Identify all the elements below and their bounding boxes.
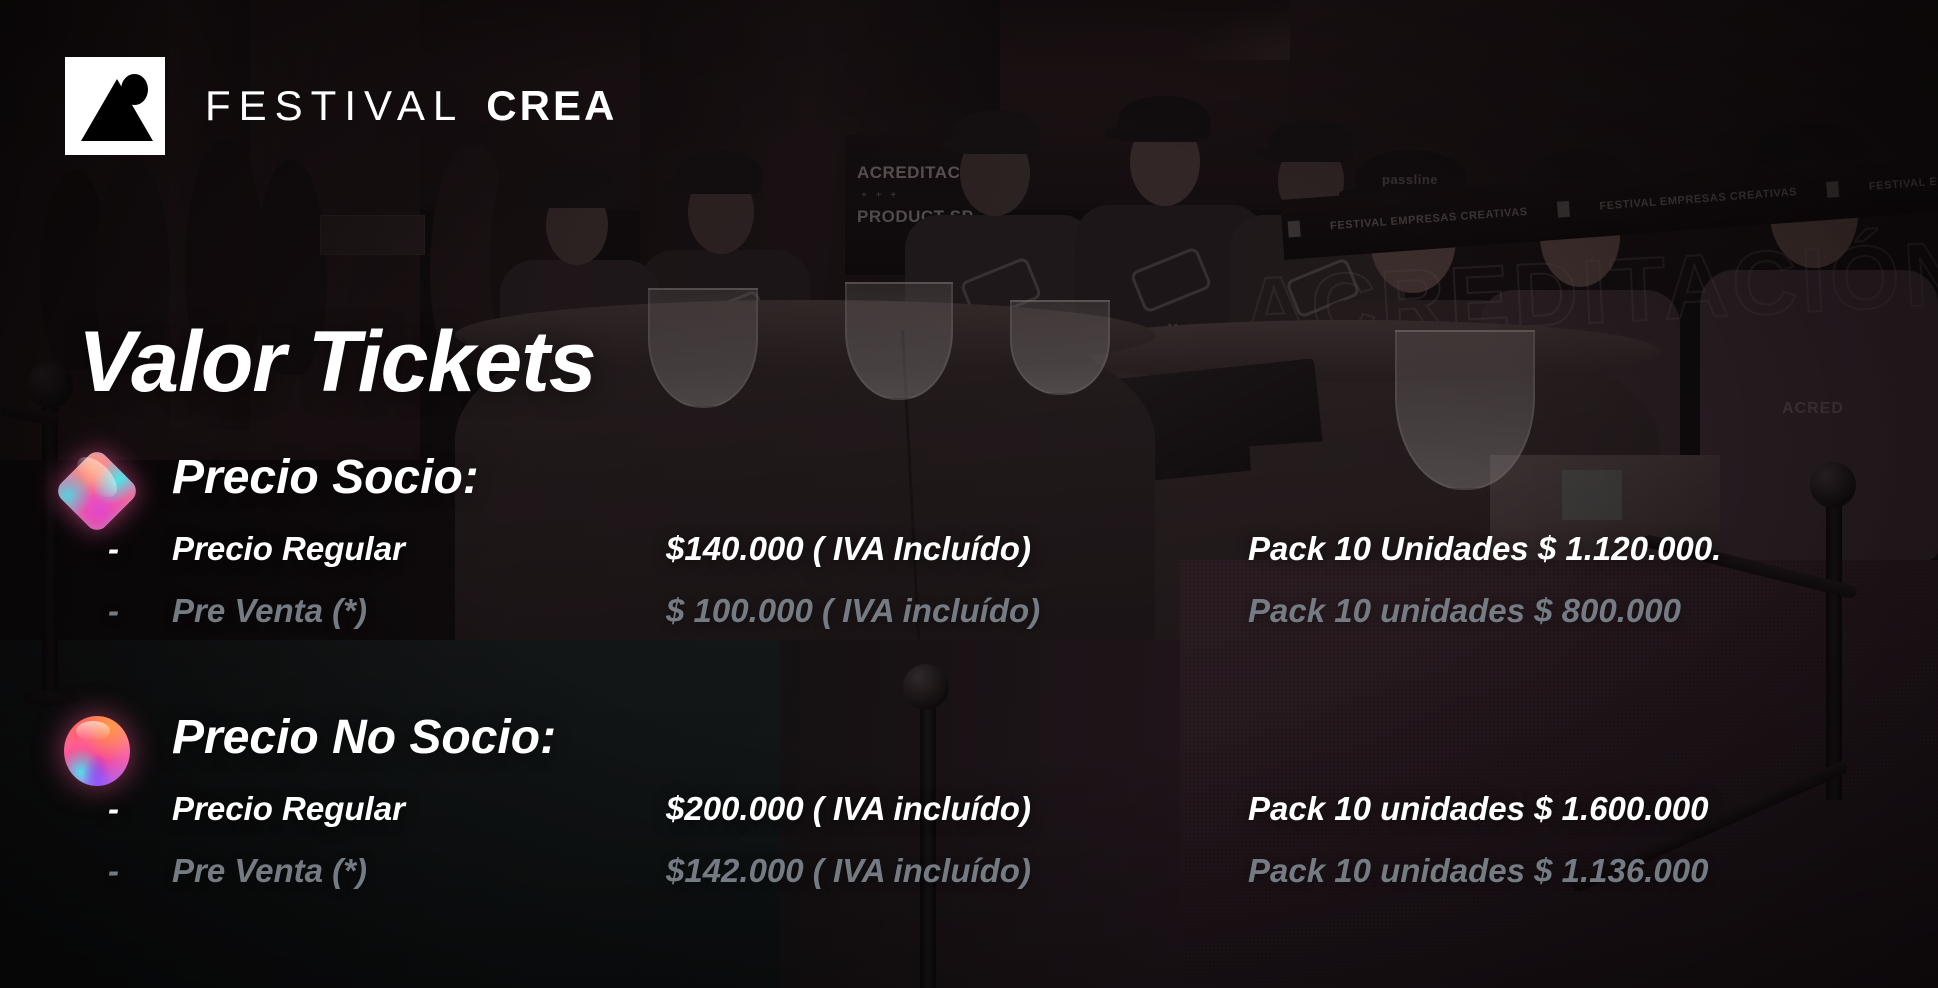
group-title: Precio Socio: bbox=[172, 450, 479, 505]
price-row: - Pre Venta (*) $ 100.000 ( IVA incluído… bbox=[0, 592, 1938, 654]
row-price: $142.000 ( IVA incluído) bbox=[666, 852, 1031, 890]
row-dash: - bbox=[108, 592, 119, 630]
row-price: $200.000 ( IVA incluído) bbox=[666, 790, 1031, 828]
gradient-orb-icon bbox=[58, 712, 136, 790]
logo-circle-icon bbox=[121, 74, 148, 105]
row-pack: Pack 10 unidades $ 1.136.000 bbox=[1248, 852, 1708, 890]
row-price: $ 100.000 ( IVA incluído) bbox=[666, 592, 1040, 630]
price-row: - Precio Regular $200.000 ( IVA incluído… bbox=[0, 790, 1938, 852]
price-row: - Precio Regular $140.000 ( IVA Incluído… bbox=[0, 530, 1938, 592]
pricing-group-no-socio: Precio No Socio: - Precio Regular $200.0… bbox=[0, 720, 1938, 914]
slide-content: FESTIVAL CREA Valor Tickets Precio Socio… bbox=[0, 0, 1938, 988]
row-pack: Pack 10 Unidades $ 1.120.000. bbox=[1248, 530, 1721, 568]
pricing-group-socio: Precio Socio: - Precio Regular $140.000 … bbox=[0, 460, 1938, 654]
row-price: $140.000 ( IVA Incluído) bbox=[666, 530, 1031, 568]
price-row: - Pre Venta (*) $142.000 ( IVA incluído)… bbox=[0, 852, 1938, 914]
row-pack: Pack 10 unidades $ 800.000 bbox=[1248, 592, 1681, 630]
brand-lockup: FESTIVAL CREA bbox=[65, 57, 617, 155]
group-header: Precio Socio: bbox=[0, 460, 1938, 530]
row-label: Pre Venta (*) bbox=[172, 592, 367, 630]
page-title: Valor Tickets bbox=[78, 313, 596, 412]
row-label: Pre Venta (*) bbox=[172, 852, 367, 890]
row-dash: - bbox=[108, 852, 119, 890]
row-dash: - bbox=[108, 790, 119, 828]
slide-canvas: ACREDITACIÓN + + + PRODUCT SP passline p… bbox=[0, 0, 1938, 988]
gradient-diamond-icon bbox=[58, 452, 136, 530]
row-pack: Pack 10 unidades $ 1.600.000 bbox=[1248, 790, 1708, 828]
row-label: Precio Regular bbox=[172, 530, 405, 568]
mountain-sun-logo-icon bbox=[65, 57, 165, 155]
group-header: Precio No Socio: bbox=[0, 720, 1938, 790]
brand-wordmark: FESTIVAL CREA bbox=[205, 82, 617, 130]
brand-word-festival: FESTIVAL bbox=[205, 82, 464, 130]
row-label: Precio Regular bbox=[172, 790, 405, 828]
row-dash: - bbox=[108, 530, 119, 568]
brand-word-crea: CREA bbox=[486, 82, 617, 130]
group-title: Precio No Socio: bbox=[172, 710, 556, 765]
